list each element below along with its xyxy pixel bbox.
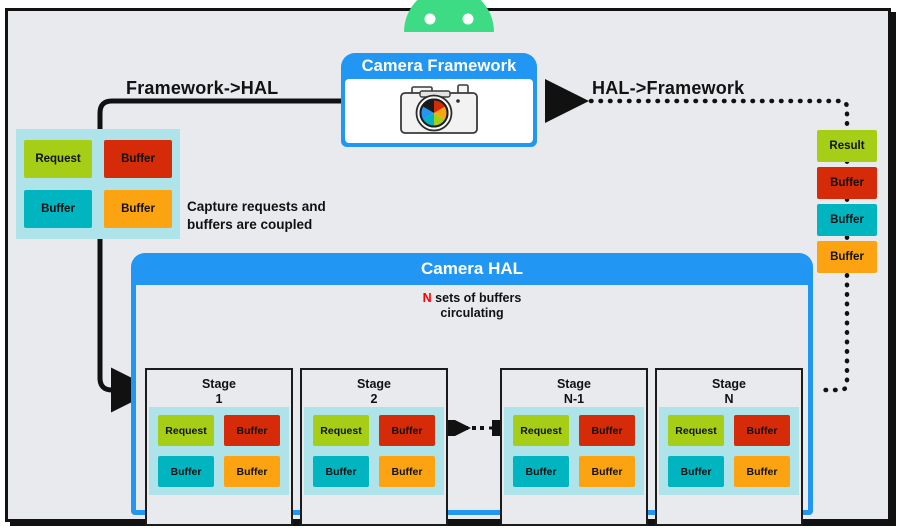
camera-hal-body: N sets of buffers circulating bbox=[136, 285, 808, 510]
coupled-chip-buffer-3: Buffer bbox=[104, 190, 172, 228]
camera-framework-card[interactable]: Camera Framework bbox=[341, 53, 537, 147]
camera-icon bbox=[396, 81, 482, 142]
stage-title-line1: Stage bbox=[502, 377, 646, 392]
coupled-note-line2: buffers are coupled bbox=[187, 216, 397, 234]
camera-hal-panel[interactable]: Camera HAL N sets of buffers circulating bbox=[131, 253, 813, 515]
camera-framework-body bbox=[345, 79, 533, 143]
stage-chip-buffer-2: Buffer bbox=[513, 456, 569, 487]
stage-box[interactable]: StageNRequestBufferBufferBuffer bbox=[655, 368, 803, 526]
coupled-chip-grid: RequestBufferBufferBuffer bbox=[24, 140, 172, 228]
stage-title-line1: Stage bbox=[302, 377, 446, 392]
stage-chip-grid: RequestBufferBufferBuffer bbox=[158, 415, 280, 487]
stage-chip-buffer-1: Buffer bbox=[734, 415, 790, 446]
hal-to-framework-label: HAL->Framework bbox=[592, 78, 744, 99]
result-buffer-stack: ResultBufferBufferBuffer bbox=[817, 130, 877, 278]
buffers-circulating-rest: sets of buffers bbox=[432, 291, 522, 305]
stage-box[interactable]: Stage1RequestBufferBufferBuffer bbox=[145, 368, 293, 526]
stage-title: StageN bbox=[657, 370, 801, 407]
stage-buffer-band: RequestBufferBufferBuffer bbox=[504, 407, 644, 495]
camera-framework-title: Camera Framework bbox=[341, 53, 537, 79]
stage-chip-request-0: Request bbox=[513, 415, 569, 446]
result-stack-chip-buffer-3: Buffer bbox=[817, 241, 877, 273]
coupled-request-buffer-group: RequestBufferBufferBuffer bbox=[16, 129, 180, 239]
result-stack-chip-result-0: Result bbox=[817, 130, 877, 162]
buffers-circulating-note: N sets of buffers circulating bbox=[136, 285, 808, 321]
buffers-circulating-line1: N sets of buffers bbox=[136, 291, 808, 306]
buffer-count-n: N bbox=[423, 291, 432, 305]
stage-box[interactable]: Stage2RequestBufferBufferBuffer bbox=[300, 368, 448, 526]
coupled-note-line1: Capture requests and bbox=[187, 198, 397, 216]
stage-title-line1: Stage bbox=[147, 377, 291, 392]
stage-chip-buffer-1: Buffer bbox=[224, 415, 280, 446]
stage-chip-buffer-2: Buffer bbox=[313, 456, 369, 487]
stage-chip-buffer-3: Buffer bbox=[734, 456, 790, 487]
stage-chip-grid: RequestBufferBufferBuffer bbox=[313, 415, 435, 487]
coupled-note: Capture requests and buffers are coupled bbox=[187, 198, 397, 234]
stage-buffer-band: RequestBufferBufferBuffer bbox=[149, 407, 289, 495]
stage-buffer-band: RequestBufferBufferBuffer bbox=[659, 407, 799, 495]
stage-title: Stage1 bbox=[147, 370, 291, 407]
stage-chip-request-0: Request bbox=[668, 415, 724, 446]
stage-title-line2: N bbox=[657, 392, 801, 407]
coupled-chip-buffer-2: Buffer bbox=[24, 190, 92, 228]
stage-list: Stage1RequestBufferBufferBufferStage2Req… bbox=[136, 368, 808, 510]
stage-title-line2: N-1 bbox=[502, 392, 646, 407]
stage-title-line2: 2 bbox=[302, 392, 446, 407]
stage-buffer-band: RequestBufferBufferBuffer bbox=[304, 407, 444, 495]
coupled-chip-request-0: Request bbox=[24, 140, 92, 178]
coupled-chip-buffer-1: Buffer bbox=[104, 140, 172, 178]
stage-chip-buffer-3: Buffer bbox=[579, 456, 635, 487]
stage-chip-buffer-1: Buffer bbox=[579, 415, 635, 446]
diagram-canvas: Camera Framework bbox=[0, 0, 900, 531]
stage-title-line2: 1 bbox=[147, 392, 291, 407]
stage-chip-buffer-3: Buffer bbox=[224, 456, 280, 487]
result-stack-chip-buffer-2: Buffer bbox=[817, 204, 877, 236]
stage-chip-grid: RequestBufferBufferBuffer bbox=[513, 415, 635, 487]
stage-title: StageN-1 bbox=[502, 370, 646, 407]
framework-to-hal-label: Framework->HAL bbox=[126, 78, 278, 99]
stage-chip-grid: RequestBufferBufferBuffer bbox=[668, 415, 790, 487]
stage-chip-buffer-1: Buffer bbox=[379, 415, 435, 446]
result-stack-chip-buffer-1: Buffer bbox=[817, 167, 877, 199]
stage-chip-request-0: Request bbox=[158, 415, 214, 446]
stage-chip-buffer-3: Buffer bbox=[379, 456, 435, 487]
stage-chip-request-0: Request bbox=[313, 415, 369, 446]
stage-ellipsis-group bbox=[443, 420, 501, 436]
buffers-circulating-line2: circulating bbox=[136, 306, 808, 321]
stage-box[interactable]: StageN-1RequestBufferBufferBuffer bbox=[500, 368, 648, 526]
stage-title-line1: Stage bbox=[657, 377, 801, 392]
camera-hal-title: Camera HAL bbox=[131, 253, 813, 285]
stage-chip-buffer-2: Buffer bbox=[668, 456, 724, 487]
stage-title: Stage2 bbox=[302, 370, 446, 407]
stage-chip-buffer-2: Buffer bbox=[158, 456, 214, 487]
